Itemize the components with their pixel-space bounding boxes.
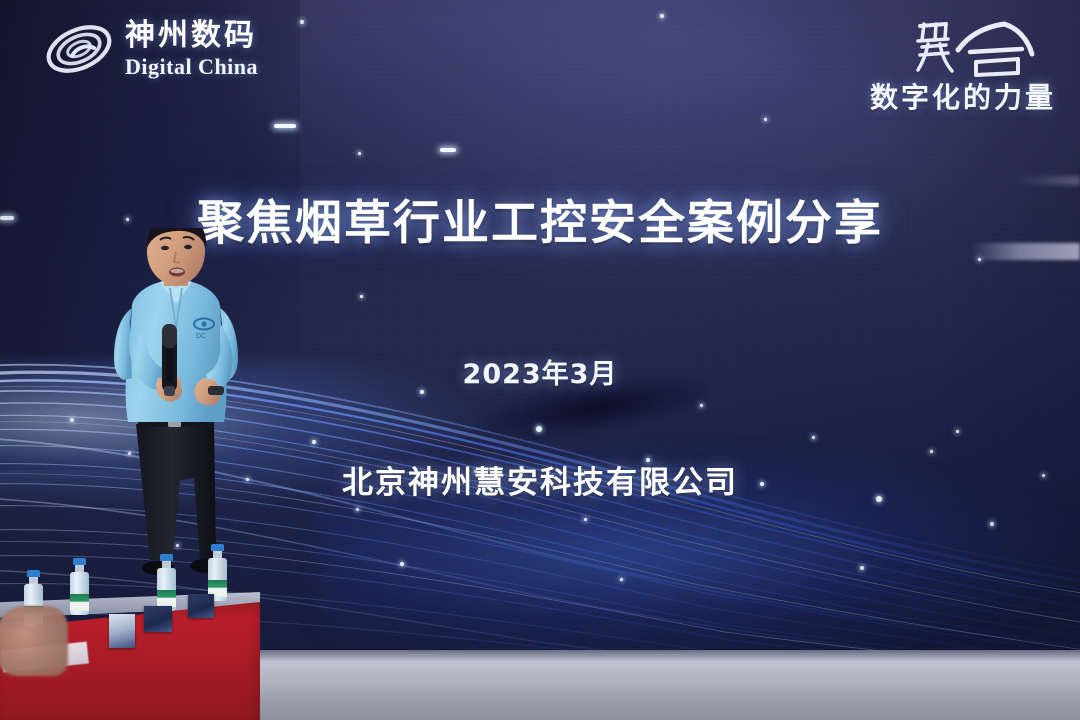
presenter-trousers: [136, 424, 216, 562]
name-card: [144, 606, 172, 632]
brand-name-cn: 神州数码: [125, 21, 258, 51]
water-bottle: [208, 544, 227, 601]
calligraphy-juhe-icon: [906, 16, 1056, 82]
water-bottle: [157, 554, 176, 611]
brand-name-en: Digital China: [125, 56, 258, 78]
name-card: [109, 614, 135, 648]
digital-china-logo: 神州数码 Digital China: [42, 18, 258, 80]
particle: [358, 152, 361, 155]
particle-dash: [440, 148, 456, 152]
particle: [764, 118, 767, 121]
seated-attendee: [0, 606, 68, 676]
particle: [300, 20, 304, 24]
name-card: [188, 594, 214, 618]
digital-china-logo-text: 神州数码 Digital China: [125, 21, 258, 78]
particle-dash: [274, 124, 296, 128]
water-bottle: [70, 558, 89, 615]
swirl-spiral-logo-icon: [42, 18, 116, 80]
event-theme-logo: 数字化的力量: [870, 16, 1056, 116]
particle: [360, 295, 363, 298]
stage-photo-scene: 神州数码 Digital China 数字化的力量 聚焦烟草行业工控安全案例分享…: [0, 0, 1080, 720]
svg-text:DC: DC: [196, 333, 206, 340]
particle: [660, 14, 664, 18]
handheld-microphone-icon: [162, 324, 177, 396]
presentation-clicker-icon: [208, 386, 224, 395]
event-tagline: 数字化的力量: [870, 76, 1056, 116]
